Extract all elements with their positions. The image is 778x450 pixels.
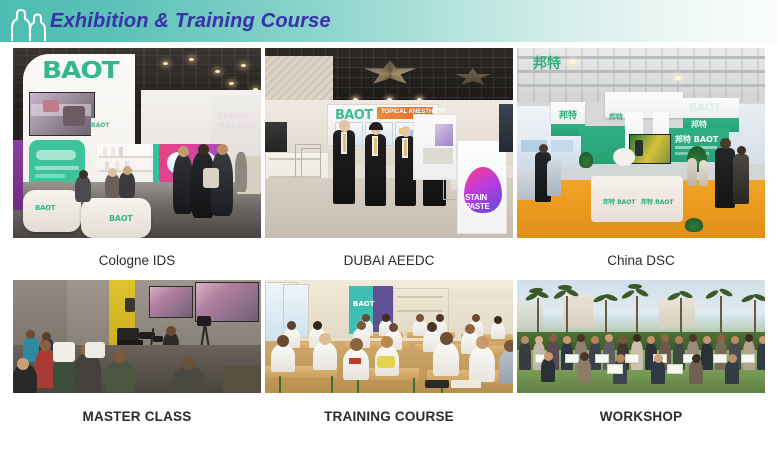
page-title: Exhibition & Training Course xyxy=(50,10,331,33)
photo-china-dsc[interactable]: 邦特 邦特 BAOT 邦特 邦特 BAOT xyxy=(517,48,765,238)
photo-master-class[interactable] xyxy=(13,280,261,393)
gallery-item-master-class[interactable]: MASTER CLASS xyxy=(13,280,261,424)
gallery-item-dubai-aeedc[interactable]: BAOT TOPICAL ANESTHETIC xyxy=(265,48,513,280)
gallery-row-2: MASTER CLASS BAOT xyxy=(13,280,765,424)
gallery-item-cologne-ids[interactable]: SEHENMACHEN BAOT BAOT xyxy=(13,48,261,280)
gallery-item-workshop[interactable]: WORKSHOP xyxy=(517,280,765,424)
two-people-icon xyxy=(0,0,52,42)
caption-workshop: WORKSHOP xyxy=(517,393,765,424)
caption-dubai-aeedc: DUBAI AEEDC xyxy=(265,238,513,280)
section-header-banner: Exhibition & Training Course xyxy=(0,0,778,42)
photo-workshop[interactable] xyxy=(517,280,765,393)
caption-cologne-ids: Cologne IDS xyxy=(13,238,261,280)
gallery-item-training-course[interactable]: BAOT xyxy=(265,280,513,424)
photo-dubai-aeedc[interactable]: BAOT TOPICAL ANESTHETIC xyxy=(265,48,513,238)
caption-training-course: TRAINING COURSE xyxy=(265,393,513,424)
gallery-item-china-dsc[interactable]: 邦特 邦特 BAOT 邦特 邦特 BAOT xyxy=(517,48,765,280)
caption-china-dsc: China DSC xyxy=(517,238,765,280)
photo-cologne-ids[interactable]: SEHENMACHEN BAOT BAOT xyxy=(13,48,261,238)
page-root: Exhibition & Training Course xyxy=(0,0,778,450)
caption-master-class: MASTER CLASS xyxy=(13,393,261,424)
gallery: SEHENMACHEN BAOT BAOT xyxy=(0,42,778,423)
gallery-row-1: SEHENMACHEN BAOT BAOT xyxy=(13,48,765,280)
photo-training-course[interactable]: BAOT xyxy=(265,280,513,393)
